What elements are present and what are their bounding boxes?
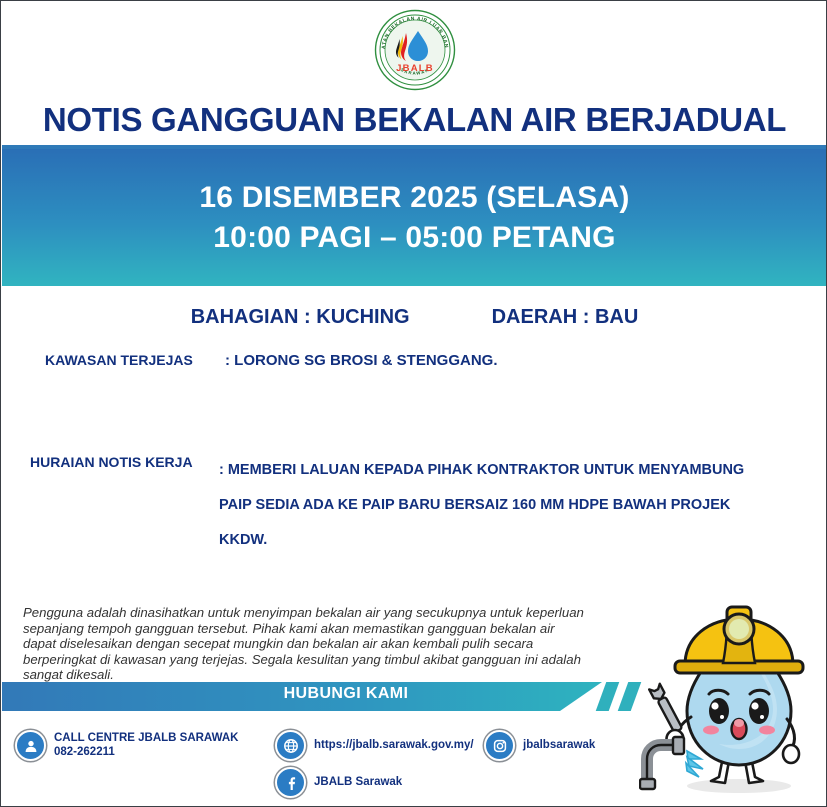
call-centre-name: CALL CENTRE JBALB SARAWAK: [54, 732, 238, 744]
banner-time: 10:00 PAGI – 05:00 PETANG: [213, 221, 615, 255]
disclaimer-text: Pengguna adalah dinasihatkan untuk menyi…: [23, 605, 588, 683]
instagram-icon: [484, 730, 515, 761]
person-icon: [15, 730, 46, 761]
date-time-banner: 16 DISEMBER 2025 (SELASA) 10:00 PAGI – 0…: [2, 149, 827, 286]
globe-icon: [275, 730, 306, 761]
contact-instagram[interactable]: jbalbsarawak: [484, 730, 595, 761]
district-label: DAERAH : BAU: [492, 306, 639, 329]
svg-text:JBALB: JBALB: [396, 63, 434, 74]
facebook-page: JBALB Sarawak: [314, 776, 402, 790]
notice-poster: JABATAN BEKALAN AIR LUAR BANDAR SARAWAK …: [0, 0, 827, 807]
logo-container: JABATAN BEKALAN AIR LUAR BANDAR SARAWAK …: [1, 9, 827, 91]
page-title: NOTIS GANGGUAN BEKALAN AIR BERJADUAL: [1, 101, 827, 139]
affected-area-label: KAWASAN TERJEJAS: [45, 352, 225, 369]
call-centre-text: CALL CENTRE JBALB SARAWAK 082-262211: [54, 732, 238, 759]
water-droplet-worker-mascot-icon: [639, 599, 824, 799]
facebook-icon: [275, 767, 306, 798]
banner-date: 16 DISEMBER 2025 (SELASA): [199, 181, 629, 215]
affected-area-value: : LORONG SG BROSI & STENGGANG.: [225, 352, 498, 369]
contact-website[interactable]: https://jbalb.sarawak.gov.my/: [275, 730, 474, 761]
division-label: BAHAGIAN : KUCHING: [191, 306, 410, 329]
work-description-value: : MEMBERI LALUAN KEPADA PIHAK KONTRAKTOR…: [219, 453, 779, 558]
affected-area-row: KAWASAN TERJEJAS : LORONG SG BROSI & STE…: [45, 352, 498, 369]
website-url: https://jbalb.sarawak.gov.my/: [314, 739, 474, 753]
call-centre-number: 082-262211: [54, 746, 115, 758]
instagram-handle: jbalbsarawak: [523, 739, 595, 753]
contact-bar-title: HUBUNGI KAMI: [1, 685, 691, 703]
division-district-row: BAHAGIAN : KUCHING DAERAH : BAU: [1, 306, 827, 329]
work-description-label: HURAIAN NOTIS KERJA: [30, 453, 219, 558]
work-description-row: HURAIAN NOTIS KERJA : MEMBERI LALUAN KEP…: [30, 453, 779, 558]
contact-call-centre[interactable]: CALL CENTRE JBALB SARAWAK 082-262211: [15, 730, 238, 761]
jbalb-logo-icon: JABATAN BEKALAN AIR LUAR BANDAR SARAWAK …: [374, 9, 456, 91]
contact-facebook[interactable]: JBALB Sarawak: [275, 767, 402, 798]
